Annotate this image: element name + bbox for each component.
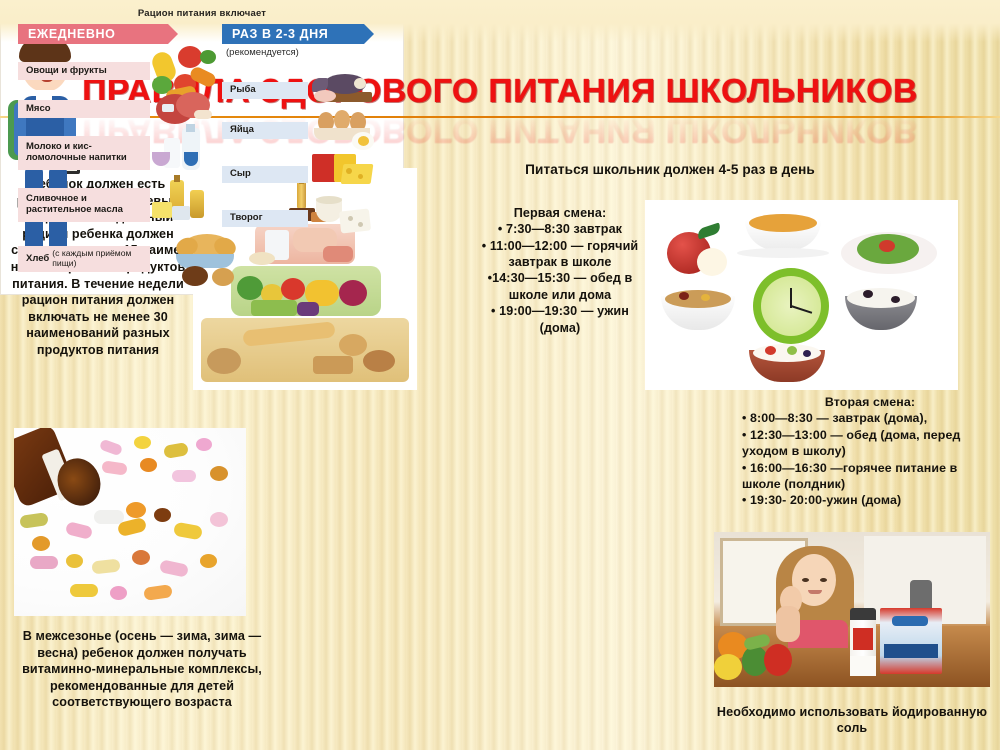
- meals-and-clock-image: [645, 200, 958, 390]
- meals-heading: Питаться школьник должен 4-5 раз в день: [470, 162, 870, 179]
- first-shift-title: Первая смена:: [472, 205, 648, 221]
- often-item-eggs: Яйца: [222, 122, 308, 139]
- salt-caption: Необходимо использовать йодированную сол…: [714, 704, 990, 737]
- second-shift-item-0: • 8:00—8:30 — завтрак (дома),: [742, 410, 998, 426]
- banner-every-2-3-days: РАЗ В 2-3 ДНЯ: [222, 24, 364, 44]
- first-shift-item-2: •14:30—15:30 — обед в школе или дома: [472, 270, 648, 303]
- daily-item-meat: Мясо: [18, 100, 150, 118]
- poster-canvas: ПРАВИЛА ЗДОРОВОГО ПИТАНИЯ ШКОЛЬНИКОВ ПРА…: [0, 0, 1000, 750]
- girl-with-iodized-salt-image: [714, 532, 990, 687]
- infographic-title: Рацион питания включает: [0, 8, 404, 19]
- second-shift-item-2: • 16:00—16:30 —горячее питание в школе (…: [742, 460, 998, 493]
- daily-item-oils: Сливочное и растительное масла: [18, 188, 150, 222]
- second-shift-item-3: • 19:30- 20:00-ужин (дома): [742, 492, 998, 508]
- second-shift-block: Вторая смена: • 8:00—8:30 — завтрак (дом…: [742, 394, 998, 509]
- daily-item-bread: Хлеб (с каждым приёмом пищи): [18, 246, 150, 272]
- daily-item-bread-note: (с каждым приёмом пищи): [52, 249, 150, 269]
- often-item-fish: Рыба: [222, 82, 308, 99]
- second-shift-title: Вторая смена:: [742, 394, 998, 410]
- often-item-cheese: Сыр: [222, 166, 308, 183]
- daily-item-vegetables-fruits: Овощи и фрукты: [18, 62, 150, 80]
- recommended-note: (рекомендуется): [226, 47, 299, 58]
- daily-item-bread-main: Хлеб: [26, 254, 49, 265]
- title-divider-line: [0, 116, 1000, 118]
- banner-daily: ЕЖЕДНЕВНО: [18, 24, 168, 44]
- daily-item-milk: Молоко и кис-ломолочные напитки: [18, 136, 150, 170]
- first-shift-item-0: • 7:30—8:30 завтрак: [472, 221, 648, 237]
- often-item-cottage-cheese: Творог: [222, 210, 308, 227]
- second-shift-item-1: • 12:30—13:00 — обед (дома, перед уходом…: [742, 427, 998, 460]
- vitamin-pills-image: [14, 428, 246, 616]
- vitamins-caption: В межсезонье (осень — зима, зима — весна…: [18, 628, 266, 711]
- first-shift-block: Первая смена: • 7:30—8:30 завтрак • 11:0…: [472, 205, 648, 336]
- first-shift-item-1: • 11:00—12:00 — горячий завтрак в школе: [472, 238, 648, 271]
- first-shift-item-3: • 19:00—19:30 — ужин (дома): [472, 303, 648, 336]
